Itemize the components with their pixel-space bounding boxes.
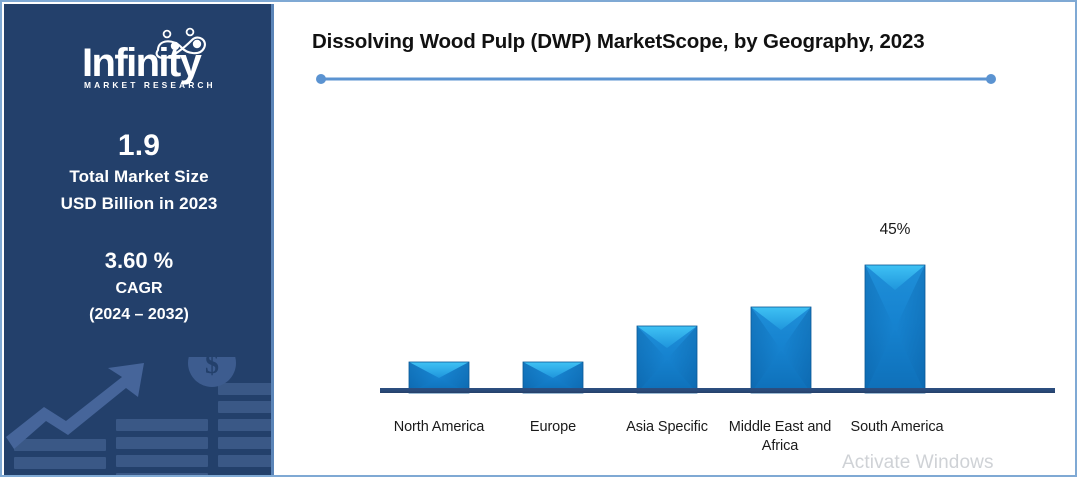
- activate-windows-watermark: Activate Windows: [842, 452, 994, 474]
- cagr-block: 3.60 % CAGR (2024 – 2032): [4, 247, 274, 328]
- svg-text:$: $: [205, 357, 219, 380]
- infinity-people-icon: Infinity MARKET RESEARCH: [54, 20, 224, 92]
- category-label-middle-east-and-africa: Middle East and Africa: [721, 418, 839, 456]
- bar-chart-plot: 45%: [277, 99, 1077, 399]
- title-underline-rule: [315, 74, 997, 84]
- bar-middle-east-and-africa[interactable]: [751, 307, 811, 393]
- market-size-label-line1: Total Market Size: [4, 163, 274, 191]
- cagr-period: (2024 – 2032): [4, 302, 274, 328]
- growth-arrow-dollar-bars-icon: $: [4, 357, 274, 477]
- category-label-europe: Europe: [493, 418, 613, 437]
- cagr-label: CAGR: [4, 276, 274, 302]
- category-label-south-america: South America: [837, 418, 957, 437]
- chart-title: Dissolving Wood Pulp (DWP) MarketScope, …: [312, 30, 1042, 54]
- market-size-label-line2: USD Billion in 2023: [4, 190, 274, 218]
- cagr-value: 3.60 %: [4, 247, 274, 276]
- infographic-frame: Infinity MARKET RESEARCH 1.9 Total Marke…: [0, 0, 1077, 477]
- logo-wordmark: Infinity: [82, 41, 203, 85]
- bar-south-america[interactable]: [865, 265, 925, 393]
- bar-asia-specific[interactable]: [637, 326, 697, 393]
- category-label-north-america: North America: [379, 418, 499, 437]
- bars-group: [277, 99, 1077, 399]
- company-logo: Infinity MARKET RESEARCH: [4, 20, 274, 92]
- logo-tagline: MARKET RESEARCH: [84, 80, 216, 90]
- chart-baseline-axis: [380, 388, 1055, 393]
- market-size-block: 1.9 Total Market Size USD Billion in 202…: [4, 129, 274, 218]
- chart-panel: Dissolving Wood Pulp (DWP) MarketScope, …: [277, 4, 1077, 477]
- summary-panel: Infinity MARKET RESEARCH 1.9 Total Marke…: [4, 4, 274, 477]
- market-size-value: 1.9: [4, 129, 274, 163]
- bar-value-label-south-america: 45%: [835, 221, 955, 239]
- category-label-asia-specific: Asia Specific: [607, 418, 727, 437]
